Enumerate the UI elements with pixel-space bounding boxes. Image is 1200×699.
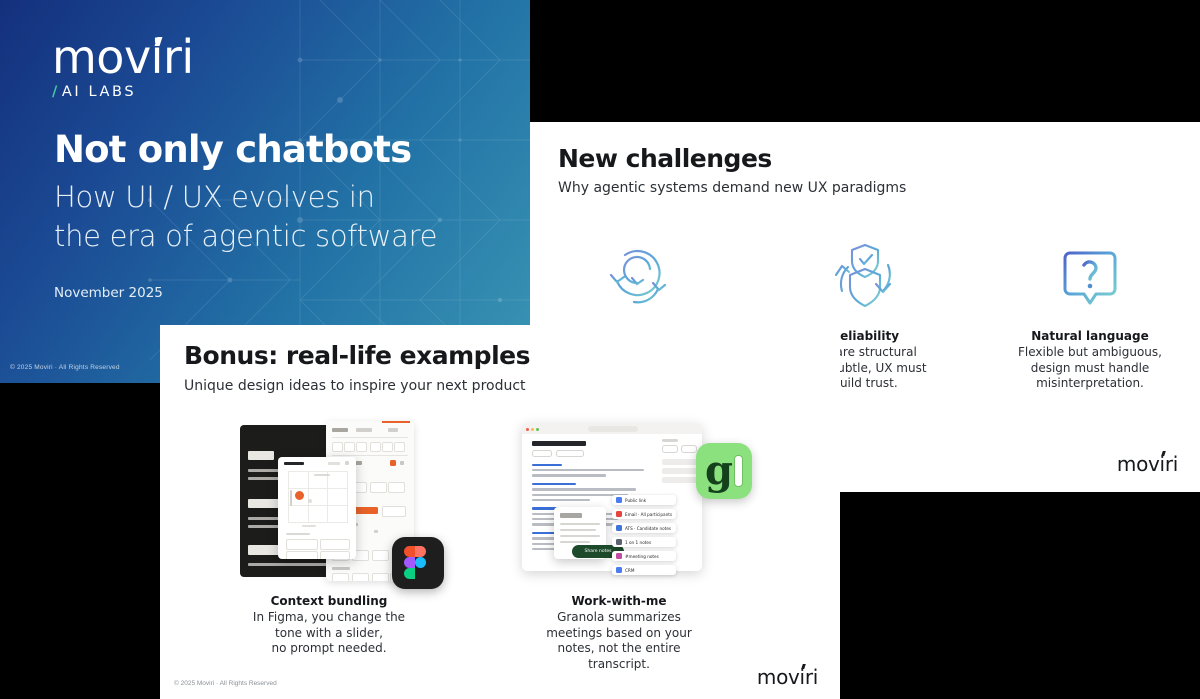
crm-icon [616,567,622,573]
challenge-body-3-line1: Flexible but ambiguous, [1018,345,1162,359]
notes-icon [616,539,622,545]
copyright-notice-bonus: © 2025 Moviri · All Rights Reserved [174,680,277,687]
bonus-body-figma-line2: tone with a slider, [275,626,383,640]
share-target-1on1-notes[interactable]: 1 on 1 notes [612,537,676,547]
granola-note-title [532,441,586,446]
moviri-ai-labs-logo: moviri /AI LABS [52,34,194,100]
share-target-public-link[interactable]: Public link [612,495,676,505]
challenge-heading-3: Natural language [990,329,1190,343]
figma-logo-icon [392,537,444,589]
slash-accent: / [52,84,60,100]
bonus-body-granola-line2: meetings based on your [546,626,692,640]
page-subtitle-line1: How UI / UX evolves in [54,180,375,214]
bonus-columns: Context bundling In Figma, you change th… [184,413,816,672]
share-target-slack[interactable]: #meeting notes [612,551,676,561]
moviri-wordmark-text: moviri [1117,452,1178,476]
figma-adjust-tone-popup[interactable] [278,457,356,559]
link-icon [616,497,622,503]
bonus-example-figma: Context bundling In Figma, you change th… [184,413,474,672]
share-target-crm[interactable]: CRM [612,565,676,575]
figma-screenshot-mock [184,413,474,588]
bonus-heading-granola: Work-with-me [474,594,764,608]
bonus-body-granola-line1: Granola summarizes [557,610,681,624]
bonus-heading-figma: Context bundling [184,594,474,608]
bonus-body-figma: In Figma, you change the tone with a sli… [229,610,429,657]
granola-share-targets-menu[interactable]: Public link Email · All participants ATS… [612,495,676,579]
ai-labs-text: AI LABS [62,84,136,100]
moviri-wordmark: moviri [52,34,194,80]
bonus-body-granola: Granola summarizes meetings based on you… [519,610,719,672]
challenge-body-3: Flexible but ambiguous, design must hand… [990,345,1190,392]
slack-icon [616,553,622,559]
page-title: Not only chatbots [54,128,524,172]
challenge-card-3: Natural language Flexible but ambiguous,… [990,237,1190,392]
share-target-ats[interactable]: ATS · Candidate notes [612,523,676,533]
shield-check-refresh-icon [765,237,965,315]
title-block: Not only chatbots How UI / UX evolves in… [54,128,524,256]
question-speech-bubble-icon [990,237,1190,315]
bonus-body-figma-line1: In Figma, you change the [253,610,405,624]
granola-titlebar [522,423,702,434]
challenge-body-2-line3: build trust. [832,376,897,390]
challenges-title: New challenges [558,144,772,173]
challenges-subtitle: Why agentic systems demand new UX paradi… [558,180,906,196]
challenge-body-3-line3: misinterpretation. [1036,376,1144,390]
moviri-logo-footer-challenges: moviri [1117,452,1178,476]
copyright-notice: © 2025 Moviri · All Rights Reserved [10,364,120,371]
share-notes-label: Share notes [585,549,612,554]
moviri-logo-footer-bonus: moviri [757,665,818,689]
granola-logo-icon: g [696,443,752,499]
bonus-title: Bonus: real-life examples [184,341,530,370]
page-subtitle: How UI / UX evolves in the era of agenti… [54,178,524,256]
ai-labs-tagline: /AI LABS [52,84,194,100]
ats-icon [616,525,622,531]
bonus-body-granola-line4: transcript. [588,657,650,671]
bonus-body-granola-line3: notes, not the entire [558,641,681,655]
slide-bonus-examples: Bonus: real-life examples Unique design … [160,325,840,699]
bonus-body-figma-line3: no prompt needed. [271,641,386,655]
gmail-icon [616,511,622,517]
granola-sidebar[interactable] [662,439,698,486]
moviri-wordmark-text: moviri [757,665,818,689]
challenge-body-3-line2: design must handle [1031,361,1150,375]
bonus-example-granola: Share notes Public link Email · All part… [474,413,764,672]
granola-search-field[interactable] [588,426,638,432]
tone-handle[interactable] [295,491,304,500]
presentation-date: November 2025 [54,285,163,301]
bonus-subtitle: Unique design ideas to inspire your next… [184,378,526,394]
loop-refresh-icon [540,237,740,315]
page-subtitle-line2: the era of agentic software [54,219,437,253]
share-target-email[interactable]: Email · All participants [612,509,676,519]
granola-screenshot-mock: Share notes Public link Email · All part… [474,413,764,588]
